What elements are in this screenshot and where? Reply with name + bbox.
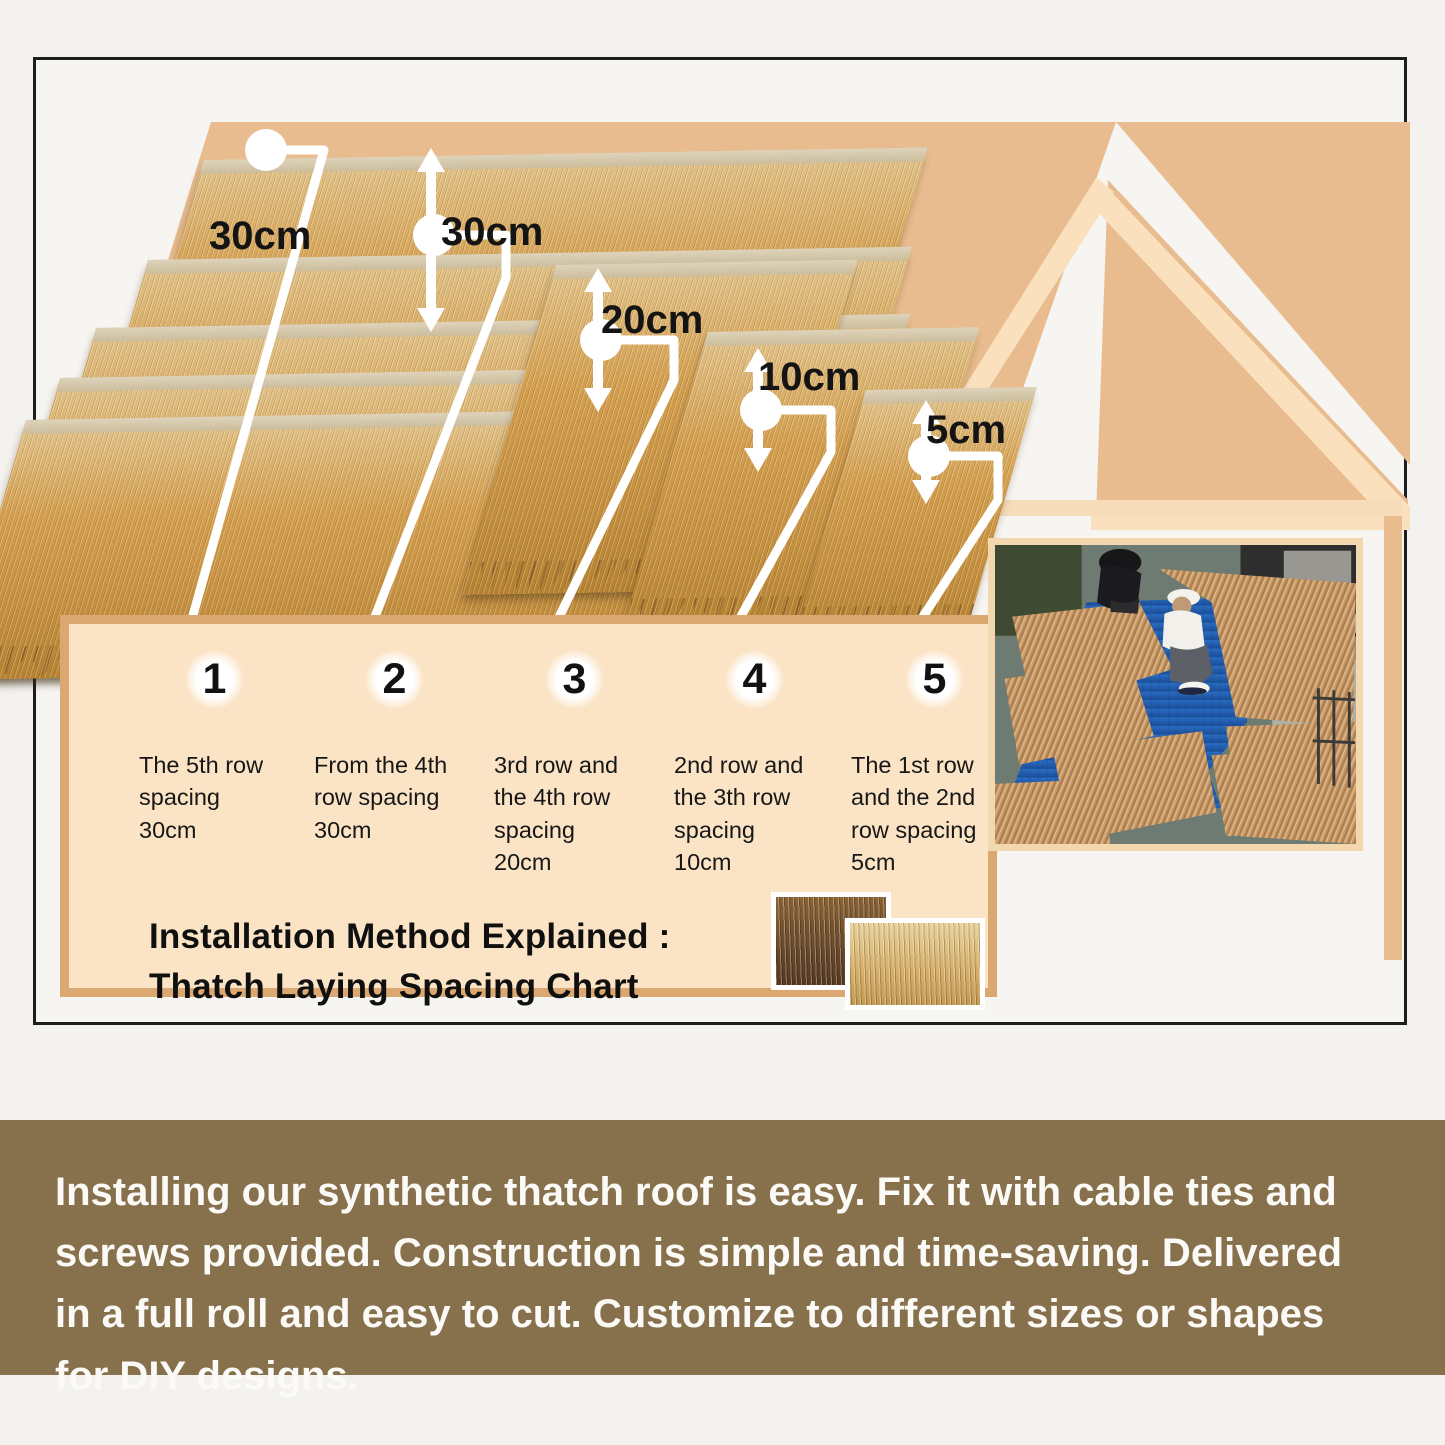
dim-arrow-head-down-4 — [744, 448, 772, 472]
leader-line-4 — [728, 410, 831, 640]
infographic-frame: 30cm 30cm 20cm 10cm 5cm 1 2 3 4 5 The 5t… — [33, 57, 1407, 1025]
dim-arrow-head-down-5 — [912, 480, 940, 504]
banner-description: Installing our synthetic thatch roof is … — [55, 1162, 1380, 1407]
step-badge-3: 3 — [546, 651, 603, 708]
step-badge-4: 4 — [726, 651, 783, 708]
step-text-4: 2nd row and the 3th row spacing 10cm — [674, 749, 850, 879]
measurement-label-20cm: 20cm — [601, 298, 703, 343]
dim-arrow-head-up-3 — [584, 268, 612, 292]
step-text-1: The 5th row spacing 30cm — [139, 749, 315, 846]
measurement-label-10cm: 10cm — [758, 355, 860, 400]
leader-line-3 — [548, 340, 674, 640]
dim-arrow-head-down-3 — [584, 388, 612, 412]
step-text-2: From the 4th row spacing 30cm — [314, 749, 490, 846]
installation-photo — [995, 545, 1356, 844]
bottom-banner: Installing our synthetic thatch roof is … — [0, 1120, 1445, 1375]
dim-arrow-head-up-2 — [417, 148, 445, 172]
banner-bottom-strip — [0, 1375, 1445, 1397]
panel-title: Installation Method Explained : Thatch L… — [149, 912, 671, 1011]
step-badge-2: 2 — [366, 651, 423, 708]
measurement-label-5cm: 5cm — [926, 408, 1006, 453]
step-badge-1: 1 — [186, 651, 243, 708]
photo-inset — [988, 538, 1363, 851]
measurement-label-30cm-b: 30cm — [441, 210, 543, 255]
info-panel: 1 2 3 4 5 The 5th row spacing 30cm From … — [60, 615, 997, 997]
sample-strand-texture — [850, 923, 980, 1005]
step-badge-5: 5 — [906, 651, 963, 708]
worker-figure-2 — [1097, 549, 1141, 614]
measurement-label-30cm-a: 30cm — [209, 214, 311, 259]
product-sample-light — [845, 918, 985, 1010]
dim-arrow-head-down-2 — [417, 308, 445, 332]
product-samples — [771, 892, 993, 1010]
step-text-3: 3rd row and the 4th row spacing 20cm — [494, 749, 670, 879]
